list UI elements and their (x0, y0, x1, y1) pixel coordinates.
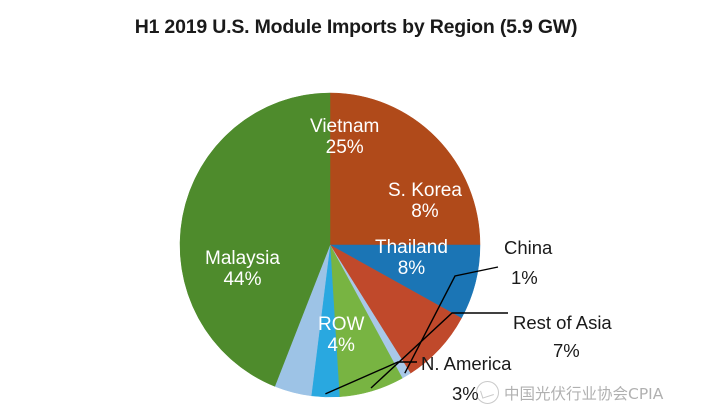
pie-slice-group (180, 93, 480, 397)
slice-pct-rest-of-asia: 7% (553, 340, 580, 362)
slice-label-n-america: N. America (421, 354, 511, 374)
slice-pct-n-america: 3% (452, 383, 479, 405)
slice-label-china: China (504, 238, 552, 258)
chart-screenshot: H1 2019 U.S. Module Imports by Region (5… (0, 0, 712, 420)
slice-pct-china: 1% (511, 267, 538, 289)
slice-label-rest-of-asia: Rest of Asia (513, 313, 612, 333)
pie-slice-vietnam[interactable] (330, 93, 480, 245)
pie-chart-graphic (0, 0, 712, 420)
